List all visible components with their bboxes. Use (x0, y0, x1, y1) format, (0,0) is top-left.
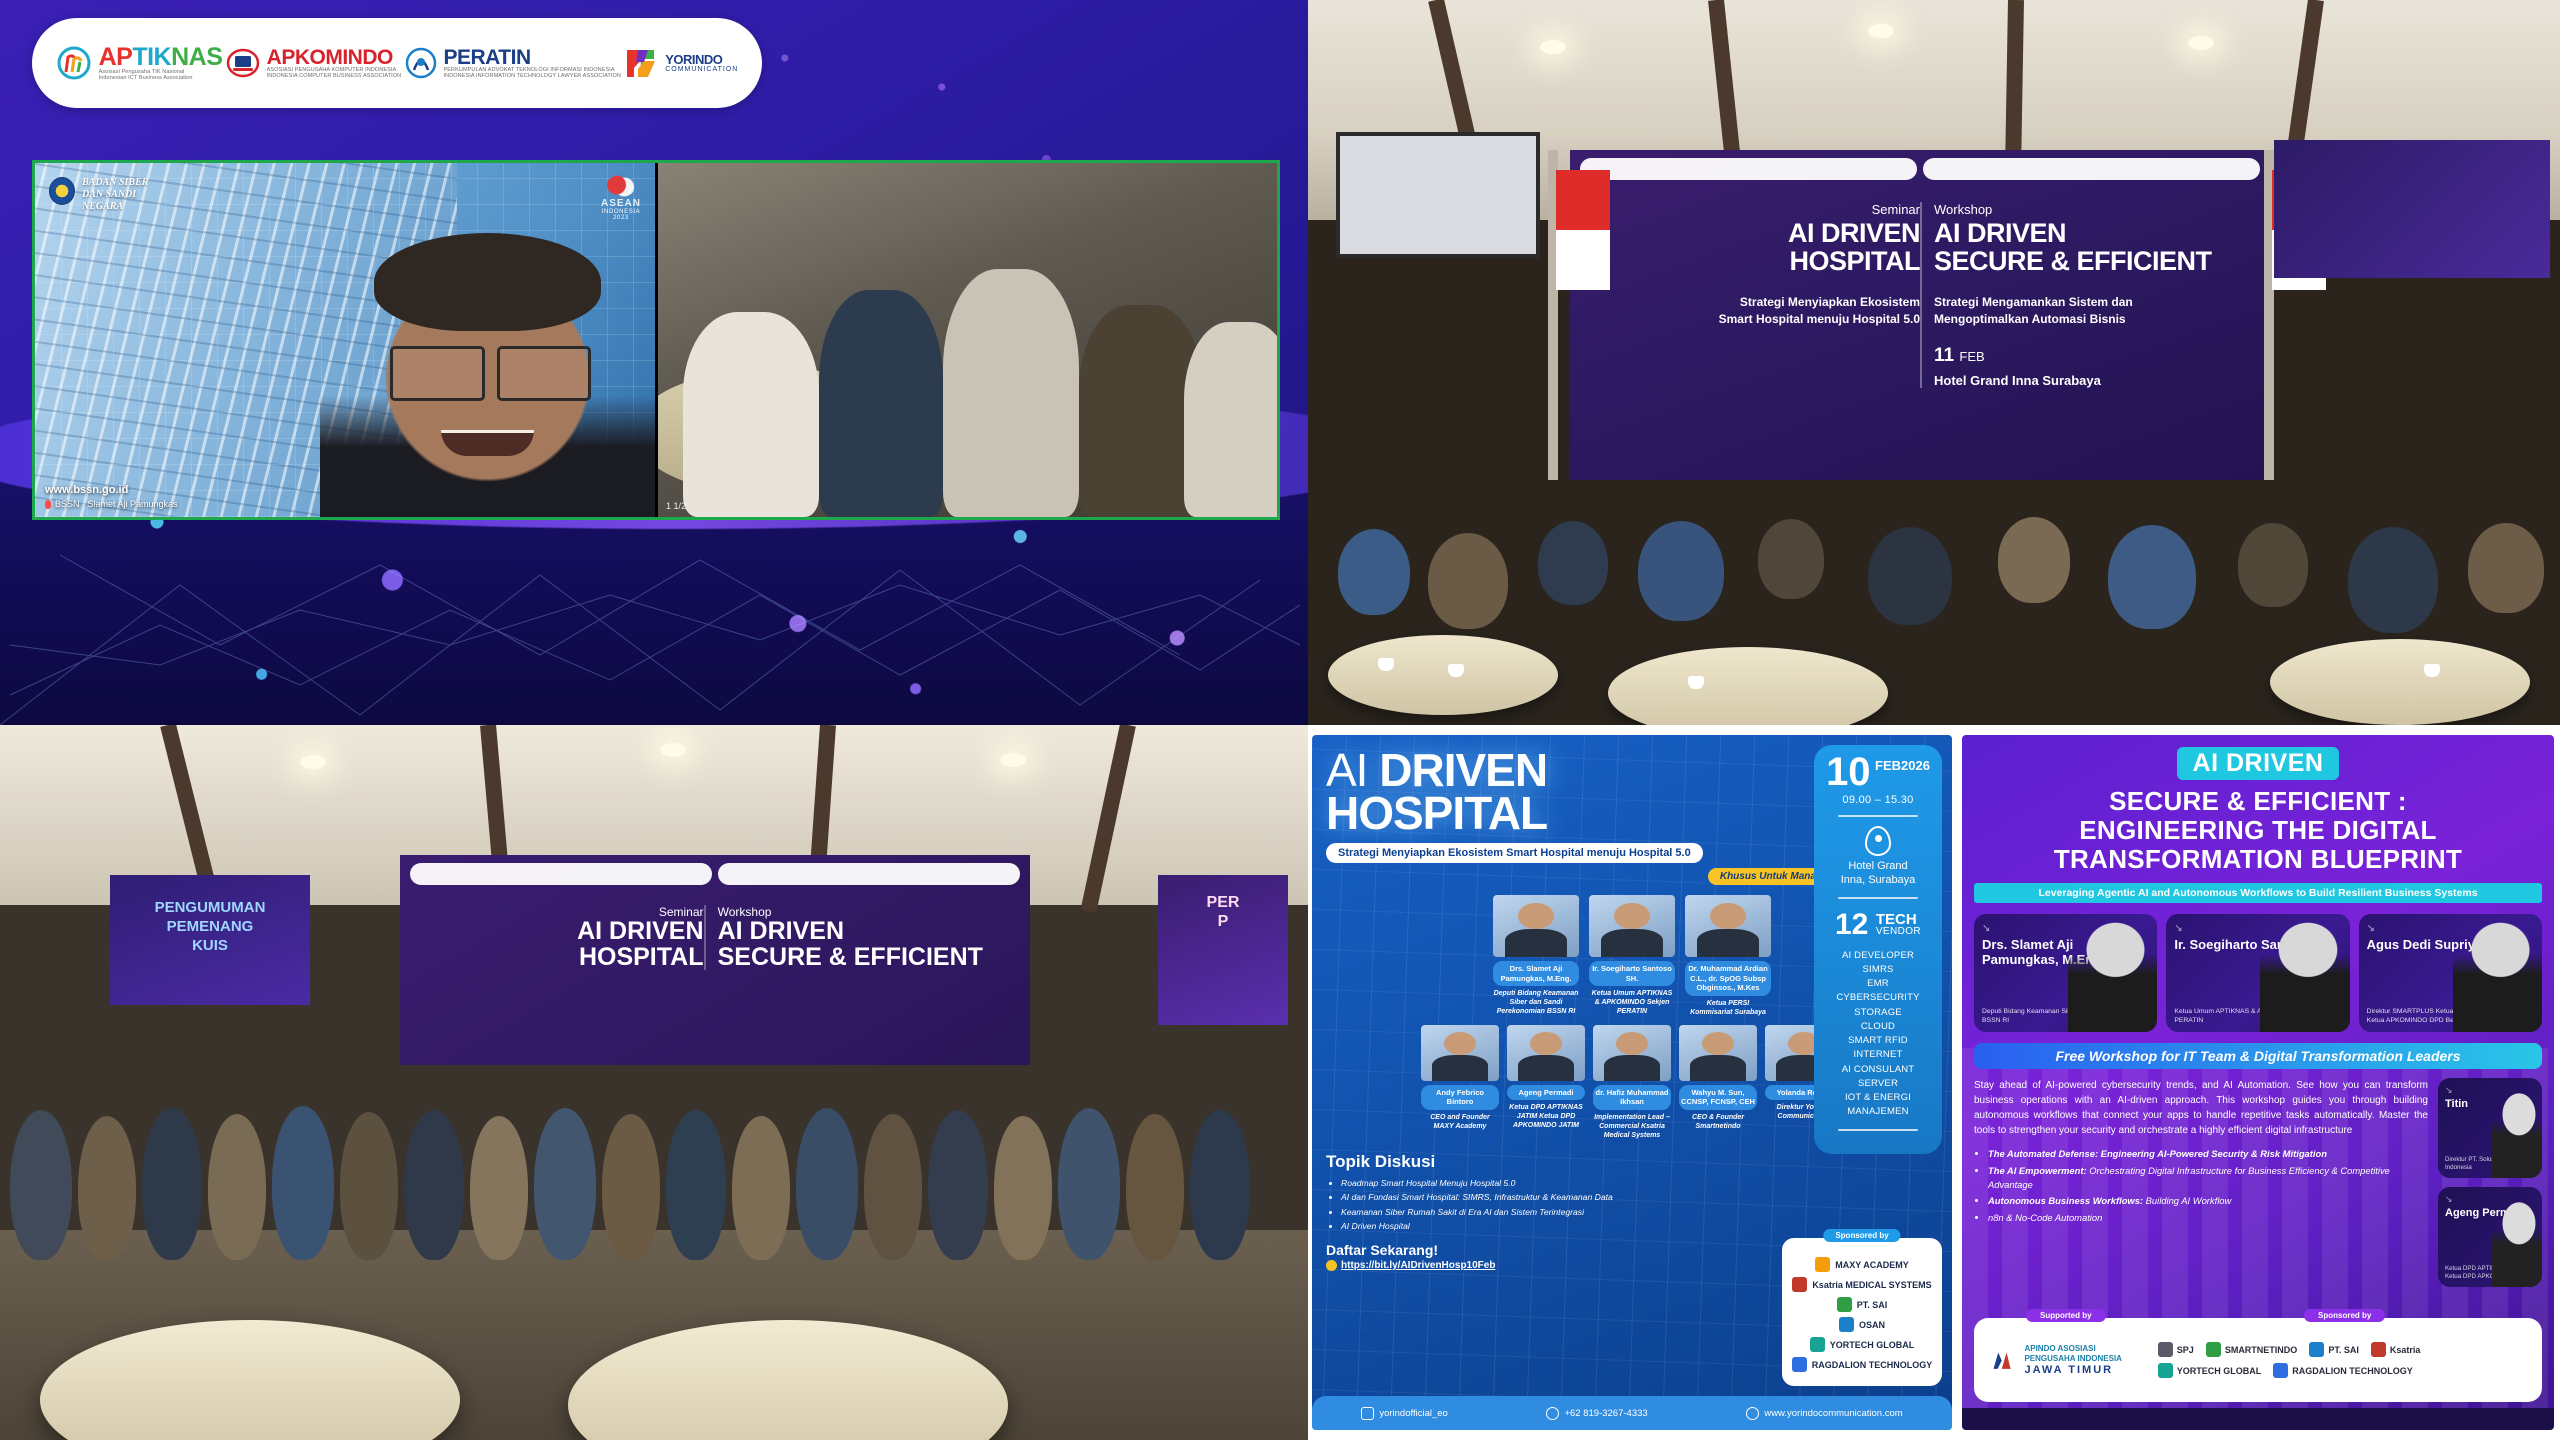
group-member (404, 1110, 464, 1260)
group-member (208, 1114, 266, 1260)
group-member (928, 1110, 988, 1260)
speaker-photo (2492, 1092, 2542, 1178)
aia-indonesia-icon (1988, 1341, 2015, 1379)
quiz-line-1: PENGUMUMAN (120, 899, 300, 918)
speaker-name: Andy Febrico Bintoro (1421, 1085, 1499, 1110)
divider (1838, 815, 1918, 817)
main-speaker-cards: ↘ Drs. Slamet Aji Pamungkas, M.Eng. Depu… (1974, 914, 2542, 1032)
bullet-bold: The AI Empowerment: (1988, 1165, 2087, 1176)
backdrop-seminar-block: Seminar AI DRIVEN HOSPITAL Strategi Meny… (1598, 202, 1920, 327)
workshop-bullets: The Automated Defense: Engineering AI-Po… (1974, 1147, 2428, 1224)
sponsor-name: YORTECH GLOBAL (2177, 1366, 2262, 1376)
apindo-name-1: APINDO ASOSIASI PENGUSAHA INDONESIA (2024, 1344, 2141, 1363)
speaker-photo (1679, 1025, 1757, 1081)
aptiknas-icon (56, 45, 92, 81)
speaker-photo (2260, 921, 2349, 1032)
venue-line-2: Inna, Surabaya (1822, 874, 1934, 888)
speaker-role: Deputi Bidang Keamanan Siber dan Sandi P… (1493, 989, 1579, 1016)
speaker-name: dr. Hafiz Muhammad Ikhsan (1593, 1085, 1671, 1110)
topic-item: Keamanan Siber Rumah Sakit di Era AI dan… (1341, 1206, 1938, 1218)
speaker-video-tile: BADAN SIBER DAN SANDI NEGARA ASEAN INDON… (35, 163, 655, 517)
speaker-card: Ir. Soegiharto Santoso SH. Ketua Umum AP… (1589, 895, 1675, 1016)
audience-video-tile: 1 1/2 (658, 163, 1277, 517)
audience-member (1338, 529, 1410, 615)
bssn-line-1: BADAN SIBER (82, 177, 148, 189)
speaker-photo (1685, 895, 1771, 957)
vendor-word-vendor: VENDOR (1876, 927, 1921, 937)
sponsor-logo: YORTECH GLOBAL (1790, 1337, 1934, 1352)
round-table (1608, 647, 1888, 725)
speaker-role: Implementation Lead – Commercial Ksatria… (1593, 1113, 1671, 1140)
sponsor-logo: Ksatria MEDICAL SYSTEMS (1790, 1277, 1934, 1292)
phone-icon (1546, 1407, 1559, 1420)
event-month: FEB (1959, 349, 1984, 364)
peratin-main: PERATIN (444, 47, 621, 68)
audience-member (2348, 527, 2438, 633)
backdrop-logo (410, 863, 712, 885)
secondary-speaker-cards: ↘ Titin Direktur PT. Solusi Amanillah In… (2438, 1078, 2542, 1287)
audience-member (1758, 519, 1824, 599)
poster-footer-contact: yorindofficial_eo +62 819-3267-4333 www.… (1312, 1396, 1952, 1430)
speaker-photo (2453, 921, 2542, 1032)
sponsor-logo: MAXY ACADEMY (1790, 1257, 1934, 1272)
mouth (441, 430, 535, 456)
speaker-card: Ageng Permadi Ketua DPD APTIKNAS JATIM K… (1507, 1025, 1585, 1140)
right-presentation-screen (2274, 140, 2550, 278)
group-member (602, 1114, 660, 1260)
venue-line-1: Hotel Grand (1822, 860, 1934, 874)
sponsor-name: OSAN (1859, 1320, 1885, 1330)
sponsor-logo: SPJ (2158, 1342, 2194, 1357)
poster-subtitle-pill: Strategi Menyiapkan Ekosistem Smart Hosp… (1326, 843, 1703, 863)
audience-crowd (1308, 425, 2560, 725)
location-pin-icon (1865, 826, 1891, 856)
quiz-line-3: KUIS (120, 937, 300, 956)
sponsor-name: SPJ (2177, 1345, 2194, 1355)
sponsor-logo: OSAN (1790, 1317, 1934, 1332)
speaker-name: Ageng Permadi (1507, 1085, 1585, 1100)
topics-list: Roadmap Smart Hospital Menuju Hospital 5… (1326, 1177, 1938, 1233)
speaker-card: Drs. Slamet Aji Pamungkas, M.Eng. Deputi… (1493, 895, 1579, 1016)
event-venue: Hotel Grand Inna Surabaya (1934, 373, 2256, 388)
sponsor-logo: SMARTNETINDO (2206, 1342, 2298, 1357)
event-time: 09.00 – 15.30 (1822, 794, 1934, 806)
quiz-winner-screen: PENGUMUMAN PEMENANG KUIS (110, 875, 310, 1005)
hair (374, 233, 602, 332)
logo-peratin: PERATIN PERKUMPULAN ADVOKAT TEKNOLOGI IN… (405, 47, 621, 79)
panel-posters: AI DRIVEN HOSPITAL Strategi Menyiapkan E… (1308, 725, 2560, 1440)
quiz-line-2: PEMENANG (120, 918, 300, 937)
round-table (1328, 635, 1558, 715)
coffee-cup (2424, 664, 2440, 677)
divider (1838, 897, 1918, 899)
bssn-url: www.bssn.go.id (45, 483, 178, 498)
divider (1838, 1129, 1918, 1131)
group-member (796, 1108, 858, 1260)
speaker-photo (1589, 895, 1675, 957)
speaker-card: ↘ Titin Direktur PT. Solusi Amanillah In… (2438, 1078, 2542, 1178)
left-projection-screen (1336, 132, 1540, 258)
group-member (142, 1108, 202, 1260)
group-member (1126, 1114, 1184, 1260)
seminar-subtitle-line2: Smart Hospital menuju Hospital 5.0 (1598, 312, 1920, 327)
globe-icon (1746, 1407, 1759, 1420)
yorindo-icon (624, 46, 658, 80)
group-photo-people (0, 1090, 1308, 1260)
seminar-title-line2: HOSPITAL (420, 945, 704, 971)
audience-member (2468, 523, 2544, 613)
apkomindo-main: APKOMINDO (267, 47, 402, 68)
seminar-title-line1: AI DRIVEN (1598, 220, 1920, 248)
poster-secure-efficient: AI DRIVEN SECURE & EFFICIENT : ENGINEERI… (1962, 735, 2554, 1430)
audience-member (1868, 527, 1952, 625)
speaker-name: Drs. Slamet Aji Pamungkas, M.Eng. (1493, 961, 1579, 986)
ceiling-light (660, 743, 686, 757)
sponsor-name: Ksatria MEDICAL SYSTEMS (1812, 1280, 1931, 1290)
group-member (78, 1116, 136, 1260)
logo-yorindo: YORINDO COMMUNICATION (624, 46, 738, 80)
workshop-title-line2: SECURE & EFFICIENT (1934, 248, 2256, 276)
peratin-icon (405, 47, 437, 79)
sponsor-logo: Ksatria (2371, 1342, 2421, 1357)
bssn-line-3: NEGARA (82, 201, 148, 213)
ceiling-light (1000, 753, 1026, 767)
speaker-card: ↘ Agus Dedi Supriyadi Direktur SMARTPLUS… (2359, 914, 2542, 1032)
ceiling-light (2188, 36, 2214, 50)
workshop-title-line1: AI DRIVEN (718, 919, 1020, 945)
workshop-title-line1: AI DRIVEN (1934, 220, 2256, 248)
poster-ai-driven-hospital: AI DRIVEN HOSPITAL Strategi Menyiapkan E… (1312, 735, 1952, 1430)
ceiling-light (300, 755, 326, 769)
sponsors-strip: Supported by Sponsored by APINDO ASOSIAS… (1974, 1318, 2542, 1402)
video-conference-tiles: BADAN SIBER DAN SANDI NEGARA ASEAN INDON… (32, 160, 1280, 520)
workshop-bullet: The AI Empowerment: Orchestrating Digita… (1988, 1164, 2428, 1191)
sponsor-name: RAGDALION TECHNOLOGY (1812, 1360, 1933, 1370)
attendee (943, 269, 1079, 517)
workshop-banner: Free Workshop for IT Team & Digital Tran… (1974, 1043, 2542, 1069)
speaker-photo (2068, 921, 2157, 1032)
group-member (666, 1110, 726, 1260)
speaker-role: Ketua DPD APTIKNAS JATIM Ketua DPD APKOM… (1507, 1103, 1585, 1130)
asean-word: ASEAN (601, 198, 641, 209)
sponsor-logo: PT. SAI (2309, 1342, 2359, 1357)
speaker-card: Dr. Muhammad Ardian C.L., dr. SpOG Subsp… (1685, 895, 1771, 1016)
seminar-title-line1: AI DRIVEN (420, 919, 704, 945)
sponsor-name: MAXY ACADEMY (1835, 1260, 1909, 1270)
apkomindo-sub2: INDONESIA COMPUTER BUSINESS ASSOCIATION (267, 74, 402, 80)
apindo-region: JAWA TIMUR (2024, 1364, 2141, 1376)
workshop-subtitle-line2: Mengoptimalkan Automasi Bisnis (1934, 312, 2256, 327)
topic-item: AI dan Fondasi Smart Hospital: SIMRS, In… (1341, 1191, 1938, 1203)
event-month: FEB (1875, 758, 1901, 773)
audience-member (1998, 517, 2070, 603)
sponsor-logo: YORTECH GLOBAL (2158, 1363, 2262, 1378)
workshop-bullet: n8n & No-Code Automation (1988, 1211, 2428, 1225)
topics-heading: Topik Diskusi (1326, 1152, 1938, 1172)
coffee-cup (1378, 658, 1394, 671)
speaker-photo (1593, 1025, 1671, 1081)
event-year: 2026 (1901, 758, 1930, 773)
group-member (1058, 1108, 1120, 1260)
group-member (10, 1110, 72, 1260)
backdrop-workshop-block: Workshop AI DRIVEN SECURE & EFFICIENT St… (1920, 202, 2256, 388)
attendee (1184, 322, 1277, 517)
sponsors-tag: Sponsored by (1823, 1229, 1900, 1242)
tile-count-badge: 1 1/2 (666, 501, 686, 511)
backdrop-logo (1923, 158, 2260, 180)
backdrop-logo-strip (410, 863, 1020, 885)
logo-apkomindo: APKOMINDO ASOSIASI PENGUSAHA KOMPUTER IN… (226, 47, 402, 79)
video-caption: www.bssn.go.id BSSN - Slamet Aji Pamungk… (45, 483, 178, 511)
poster-tag-ai-driven: AI DRIVEN (2177, 747, 2340, 780)
speaker-role: Ketua PERSI Kommisariat Surabaya (1685, 999, 1771, 1017)
speaker-photo (1493, 895, 1579, 957)
speaker-name: Wahyu M. Sun, CCNSP, FCNSP, CEH (1679, 1085, 1757, 1110)
poster-heading-line-2: ENGINEERING THE DIGITAL (1974, 816, 2542, 845)
workshop-title-line2: SECURE & EFFICIENT (718, 945, 1020, 971)
speaker-photo (2492, 1201, 2542, 1287)
round-table (2270, 639, 2530, 725)
bssn-line-2: DAN SANDI (82, 189, 148, 201)
workshop-bullet: The Automated Defense: Engineering AI-Po… (1988, 1147, 2428, 1161)
panel-group-photo: PENGUMUMAN PEMENANG KUIS Seminar AI DRIV… (0, 725, 1308, 1440)
speaker-photo (1421, 1025, 1499, 1081)
sponsor-name: YORTECH GLOBAL (1830, 1340, 1915, 1350)
bullet-rest: Building AI Workflow (2143, 1195, 2231, 1206)
logo-aptiknas: APTIKNAS Asosiasi Pengusaha TIK Nasional… (56, 45, 223, 81)
supported-by-tag: Supported by (2026, 1309, 2106, 1322)
group-member (340, 1112, 398, 1260)
yorindo-sub1: COMMUNICATION (665, 66, 738, 73)
topic-item: Roadmap Smart Hospital Menuju Hospital 5… (1341, 1177, 1938, 1189)
sponsor-logo: PT. SAI (1790, 1297, 1934, 1312)
right-screen-line-1: PER (1164, 893, 1282, 912)
backdrop-logo (1580, 158, 1917, 180)
seminar-subtitle-line1: Strategi Menyiapkan Ekosistem (1598, 295, 1920, 310)
vendor-word-tech: TECH (1876, 912, 1921, 927)
backdrop-logo (718, 863, 1020, 885)
speaker-portrait (320, 227, 655, 517)
ceiling-light (1868, 24, 1894, 38)
poster-tagline-bar: Leveraging Agentic AI and Autonomous Wor… (1974, 883, 2542, 903)
group-member (994, 1116, 1052, 1260)
seminar-title-line2: HOSPITAL (1598, 248, 1920, 276)
aptiknas-sub2: Indonesian ICT Business Association (99, 76, 223, 82)
poster-info-sidebar: 10 FEB2026 09.00 – 15.30 Hotel Grand Inn… (1814, 745, 1942, 1154)
coffee-cup (1448, 664, 1464, 677)
audience-member (2108, 525, 2196, 629)
group-member (470, 1116, 528, 1260)
supported-logos: APINDO ASOSIASI PENGUSAHA INDONESIA JAWA… (1988, 1341, 2142, 1379)
speaker-name: BSSN - Slamet Aji Pamungkas (55, 498, 178, 511)
bullet-rest: n8n & No-Code Automation (1988, 1212, 2102, 1223)
event-day: 10 (1826, 755, 1871, 789)
sponsored-by-tag: Sponsored by (2304, 1309, 2385, 1322)
speaker-role: CEO and Founder MAXY Academy (1421, 1113, 1499, 1131)
phone-number: +62 819-3267-4333 (1564, 1408, 1647, 1419)
sponsor-name: PT. SAI (1857, 1300, 1888, 1310)
photo-collage: APTIKNAS Asosiasi Pengusaha TIK Nasional… (0, 0, 2560, 1440)
backdrop-logo-strip (1580, 158, 2260, 180)
sponsor-logo-bar: APTIKNAS Asosiasi Pengusaha TIK Nasional… (32, 18, 762, 108)
group-member (534, 1108, 596, 1260)
workshop-bullet: Autonomous Business Workflows: Building … (1988, 1194, 2428, 1208)
sponsor-name: SMARTNETINDO (2225, 1345, 2298, 1355)
peratin-sub2: INDONESIA INFORMATION TECHNOLOGY LAWYER … (444, 74, 621, 80)
asean-year: 2023 (601, 215, 641, 221)
speaker-name: Ir. Soegiharto Santoso SH. (1589, 961, 1675, 986)
audience-member (1638, 521, 1724, 621)
bullet-bold: Autonomous Business Workflows: (1988, 1195, 2143, 1206)
workshop-paragraph: Stay ahead of AI-powered cybersecurity t… (1974, 1078, 2428, 1138)
speaker-role: CEO & Founder Smartnetindo (1679, 1113, 1757, 1131)
sponsor-name: Ksatria (2390, 1345, 2421, 1355)
group-member (864, 1114, 922, 1260)
speaker-card: Andy Febrico Bintoro CEO and Founder MAX… (1421, 1025, 1499, 1140)
bssn-logo: BADAN SIBER DAN SANDI NEGARA (49, 177, 148, 212)
microphone-icon (45, 500, 51, 509)
event-day: 11 (1934, 345, 1954, 366)
ceiling-light (1540, 40, 1566, 54)
speaker-card: ↘ Drs. Slamet Aji Pamungkas, M.Eng. Depu… (1974, 914, 2157, 1032)
speaker-card: dr. Hafiz Muhammad Ikhsan Implementation… (1593, 1025, 1671, 1140)
asean-2023-mark: ASEAN INDONESIA 2023 (601, 175, 641, 221)
speaker-card: Wahyu M. Sun, CCNSP, FCNSP, CEH CEO & Fo… (1679, 1025, 1757, 1140)
footer-instagram: yorindofficial_eo (1361, 1407, 1447, 1420)
workshop-kicker: Workshop (1934, 202, 2256, 217)
right-screen-line-2: P (1164, 912, 1282, 931)
group-member (1190, 1110, 1250, 1260)
panel-webinar-screenshot: APTIKNAS Asosiasi Pengusaha TIK Nasional… (0, 0, 1308, 725)
apkomindo-icon (226, 47, 260, 79)
indonesia-flag (1556, 170, 1610, 290)
instagram-handle: yorindofficial_eo (1379, 1408, 1447, 1419)
asean-bird-icon (606, 175, 636, 197)
register-url: https://bit.ly/AIDrivenHosp10Feb (1341, 1260, 1495, 1271)
footer-phone: +62 819-3267-4333 (1546, 1407, 1647, 1420)
bssn-seal-icon (49, 177, 75, 205)
instagram-icon (1361, 1407, 1374, 1420)
speaker-name: Dr. Muhammad Ardian C.L., dr. SpOG Subsp… (1685, 961, 1771, 995)
group-member (732, 1116, 790, 1260)
audience-member (1538, 521, 1608, 605)
coffee-cup (1688, 676, 1704, 689)
poster-bottom-bar (1962, 1408, 2554, 1430)
sponsor-logo: RAGDALION TECHNOLOGY (2273, 1363, 2413, 1378)
footer-website: www.yorindocommunication.com (1746, 1407, 1902, 1420)
yorindo-main: YORINDO (665, 53, 738, 66)
sponsored-logos: SPJ SMARTNETINDO PT. SAI Ksatria YORTECH… (2158, 1342, 2528, 1378)
seminar-kicker: Seminar (1598, 202, 1920, 217)
website-url: www.yorindocommunication.com (1764, 1408, 1902, 1419)
group-member (272, 1106, 334, 1260)
speaker-card: ↘ Ir. Soegiharto Santoso SH. Ketua Umum … (2166, 914, 2349, 1032)
audience-member (2238, 523, 2308, 607)
stage-backdrop: Seminar AI DRIVEN HOSPITAL Workshop AI D… (400, 855, 1030, 1065)
sponsor-name: PT. SAI (2328, 1345, 2359, 1355)
right-projection-screen: PER P (1158, 875, 1288, 1025)
attendee (819, 290, 943, 517)
workshop-subtitle-line1: Strategi Mengamankan Sistem dan (1934, 295, 2256, 310)
bullet-bold: The Automated Defense: Engineering AI-Po… (1988, 1148, 2327, 1159)
sponsor-logo: RAGDALION TECHNOLOGY (1790, 1357, 1934, 1372)
link-icon (1326, 1260, 1337, 1271)
workshop-description-block: Stay ahead of AI-powered cybersecurity t… (1974, 1078, 2428, 1287)
attendee (683, 312, 819, 517)
vendor-category-list: AI DEVELOPER SIMRS EMR CYBERSECURITY STO… (1822, 949, 1934, 1120)
speaker-role: Ketua Umum APTIKNAS & APKOMINDO Sekjen P… (1589, 989, 1675, 1016)
sponsor-name: RAGDALION TECHNOLOGY (2292, 1366, 2413, 1376)
poster-heading-line-1: SECURE & EFFICIENT : (1974, 787, 2542, 816)
speaker-card: ↘ Ageng Permadi Ketua DPD APTIKNAS JATIM… (2438, 1187, 2542, 1287)
sponsors-box: Sponsored by MAXY ACADEMY Ksatria MEDICA… (1782, 1238, 1942, 1386)
speaker-photo (1507, 1025, 1585, 1081)
panel-seminar-room: Seminar AI DRIVEN HOSPITAL Strategi Meny… (1308, 0, 2560, 725)
poster-heading-line-3: TRANSFORMATION BLUEPRINT (1974, 845, 2542, 874)
glasses-icon (390, 346, 591, 395)
vendor-count: 12 (1835, 908, 1868, 942)
audience-member (1428, 533, 1508, 629)
